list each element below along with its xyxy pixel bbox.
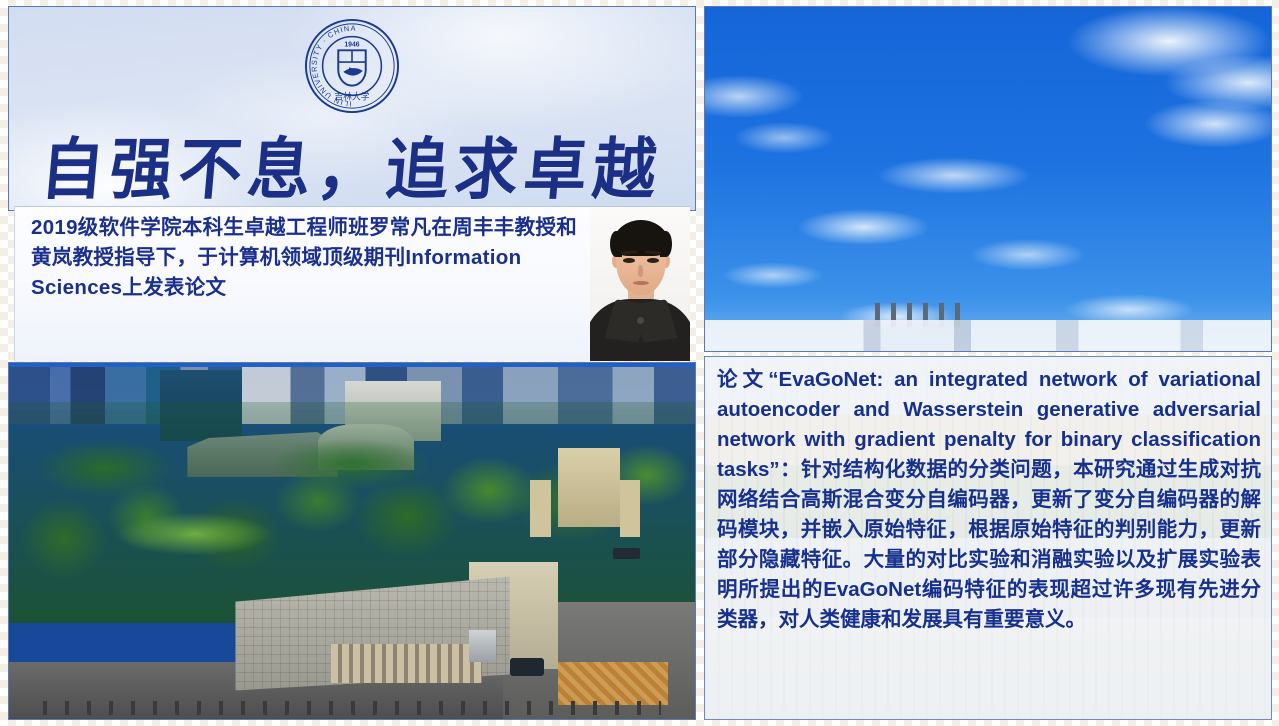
svg-text:吉林大学: 吉林大学 xyxy=(334,90,369,101)
student-portrait-photo xyxy=(590,207,690,361)
paper-abstract-panel: 论文“EvaGoNet: an integrated network of va… xyxy=(704,356,1272,720)
university-motto: 自强不息，追求卓越 xyxy=(8,116,696,211)
news-caption-card: 2019级软件学院本科生卓越工程师班罗常凡在周丰丰教授和黄岚教授指导下，于计算机… xyxy=(14,206,690,361)
hero-banner: JILIN UNIVERSITY · CHINA 1946 吉林大学 自强不息，… xyxy=(8,6,696,211)
news-caption-text: 2019级软件学院本科生卓越工程师班罗常凡在周丰丰教授和黄岚教授指导下，于计算机… xyxy=(15,207,586,361)
paper-abstract-text: 论文“EvaGoNet: an integrated network of va… xyxy=(705,357,1271,635)
jilin-university-seal-icon: JILIN UNIVERSITY · CHINA 1946 吉林大学 xyxy=(303,17,401,120)
blue-sky-photo xyxy=(704,6,1272,352)
slide-canvas: JILIN UNIVERSITY · CHINA 1946 吉林大学 自强不息，… xyxy=(0,0,1279,726)
campus-aerial-photo xyxy=(8,362,696,720)
svg-text:1946: 1946 xyxy=(344,41,359,48)
